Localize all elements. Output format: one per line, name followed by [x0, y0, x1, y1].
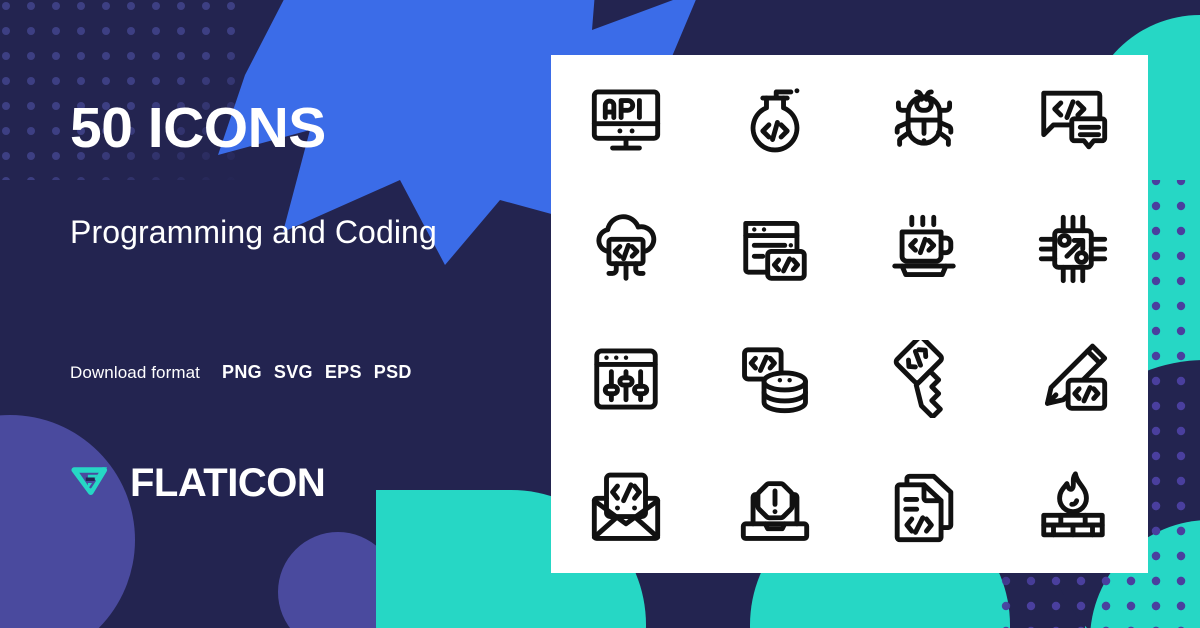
page-title: 50 ICONS: [70, 100, 326, 157]
icon-cell-processor-chip[interactable]: [999, 185, 1148, 315]
download-format-list: PNG SVG EPS PSD: [222, 362, 412, 383]
icon-cell-coffee-cup-code[interactable]: [850, 185, 999, 315]
download-format-row: Download format PNG SVG EPS PSD: [70, 362, 412, 383]
icon-cell-settings-sliders-window[interactable]: [551, 314, 700, 444]
page-subtitle: Programming and Coding: [70, 206, 470, 260]
icon-cell-error-laptop[interactable]: [700, 444, 849, 574]
flaticon-logo-icon: [70, 461, 114, 505]
format-eps[interactable]: EPS: [325, 362, 362, 383]
icon-cell-code-envelope[interactable]: [551, 444, 700, 574]
icon-preview-card: [551, 55, 1148, 573]
format-png[interactable]: PNG: [222, 362, 262, 383]
banner-canvas: 50 ICONS Programming and Coding Download…: [0, 0, 1200, 628]
format-svg[interactable]: SVG: [274, 362, 313, 383]
icon-cell-firewall[interactable]: [999, 444, 1148, 574]
icon-cell-code-chat[interactable]: [999, 55, 1148, 185]
left-content-column: 50 ICONS Programming and Coding Download…: [70, 0, 540, 628]
icon-cell-code-files[interactable]: [850, 444, 999, 574]
icon-cell-pen-code[interactable]: [999, 314, 1148, 444]
flaticon-wordmark: FLATICON: [130, 463, 325, 503]
download-format-label: Download format: [70, 363, 200, 383]
icon-cell-api-monitor[interactable]: [551, 55, 700, 185]
icon-cell-browser-code-window[interactable]: [700, 185, 849, 315]
icon-cell-cloud-code[interactable]: [551, 185, 700, 315]
format-psd[interactable]: PSD: [374, 362, 412, 383]
icon-cell-bug[interactable]: [850, 55, 999, 185]
flaticon-brand[interactable]: FLATICON: [70, 461, 325, 505]
icon-cell-code-flask[interactable]: [700, 55, 849, 185]
icon-cell-database-code[interactable]: [700, 314, 849, 444]
icon-cell-code-key[interactable]: [850, 314, 999, 444]
